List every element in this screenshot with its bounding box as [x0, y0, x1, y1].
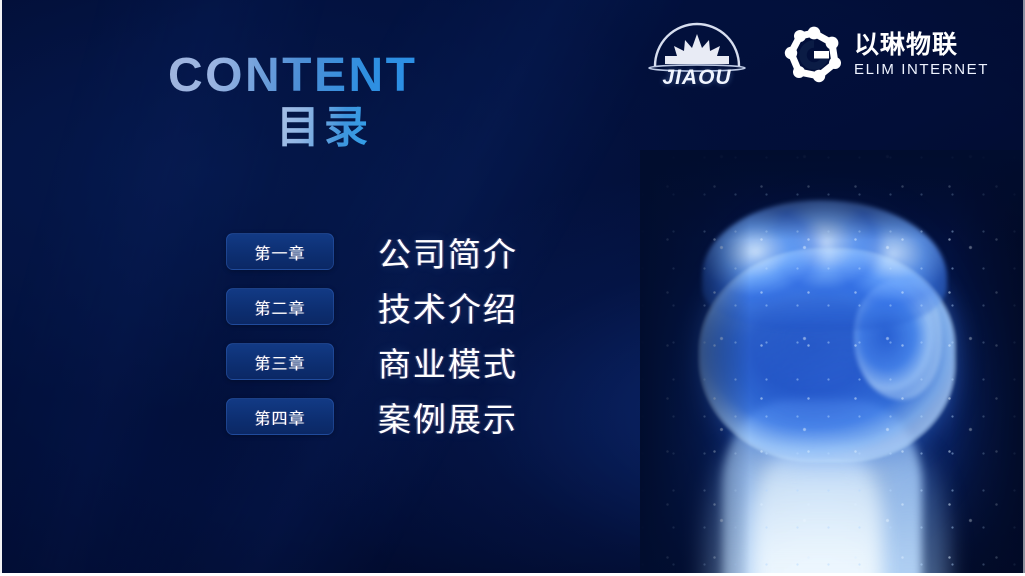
toc-item-3[interactable]: 第三章 商业模式 — [226, 334, 518, 389]
fist-fade-top — [640, 150, 1025, 240]
chapter-chip-2[interactable]: 第二章 — [226, 288, 334, 325]
molecular-g-icon — [783, 24, 845, 86]
chapter-title-4[interactable]: 案例展示 — [378, 393, 518, 441]
table-of-contents: 第一章 公司简介 第二章 技术介绍 第三章 商业模式 第四章 案例展示 — [226, 224, 518, 444]
chapter-chip-1[interactable]: 第一章 — [226, 233, 334, 270]
chapter-chip-label: 第四章 — [254, 405, 305, 429]
logo-group: JIAOU 以琳物联 ELIM INTERNET — [643, 18, 989, 92]
slide-edge-left — [0, 0, 2, 576]
chapter-title-2[interactable]: 技术介绍 — [378, 283, 518, 331]
title-chinese: 目录 — [276, 104, 372, 152]
chapter-chip-label: 第二章 — [254, 295, 305, 319]
jiaou-wordmark: JIAOU — [643, 66, 751, 90]
page-title: CONTENT 目录 — [168, 52, 588, 152]
chapter-chip-label: 第一章 — [254, 240, 305, 264]
chapter-title-1[interactable]: 公司简介 — [378, 228, 518, 276]
presentation-slide: CONTENT 目录 JIAOU — [0, 0, 1025, 576]
toc-item-4[interactable]: 第四章 案例展示 — [226, 389, 518, 444]
chapter-chip-3[interactable]: 第三章 — [226, 343, 334, 380]
chapter-chip-label: 第三章 — [254, 350, 305, 374]
glowing-fist-image — [640, 150, 1025, 576]
toc-item-1[interactable]: 第一章 公司简介 — [226, 224, 518, 279]
elim-name-chinese: 以琳物联 — [854, 33, 989, 58]
jiaou-logo: JIAOU — [643, 18, 751, 92]
chapter-title-3[interactable]: 商业模式 — [378, 338, 518, 386]
chapter-chip-4[interactable]: 第四章 — [226, 398, 334, 435]
elim-name-english: ELIM INTERNET — [854, 62, 989, 77]
elim-wordmark: 以琳物联 ELIM INTERNET — [854, 33, 989, 77]
toc-item-2[interactable]: 第二章 技术介绍 — [226, 279, 518, 334]
title-english: CONTENT — [168, 52, 417, 100]
elim-logo: 以琳物联 ELIM INTERNET — [783, 24, 989, 86]
